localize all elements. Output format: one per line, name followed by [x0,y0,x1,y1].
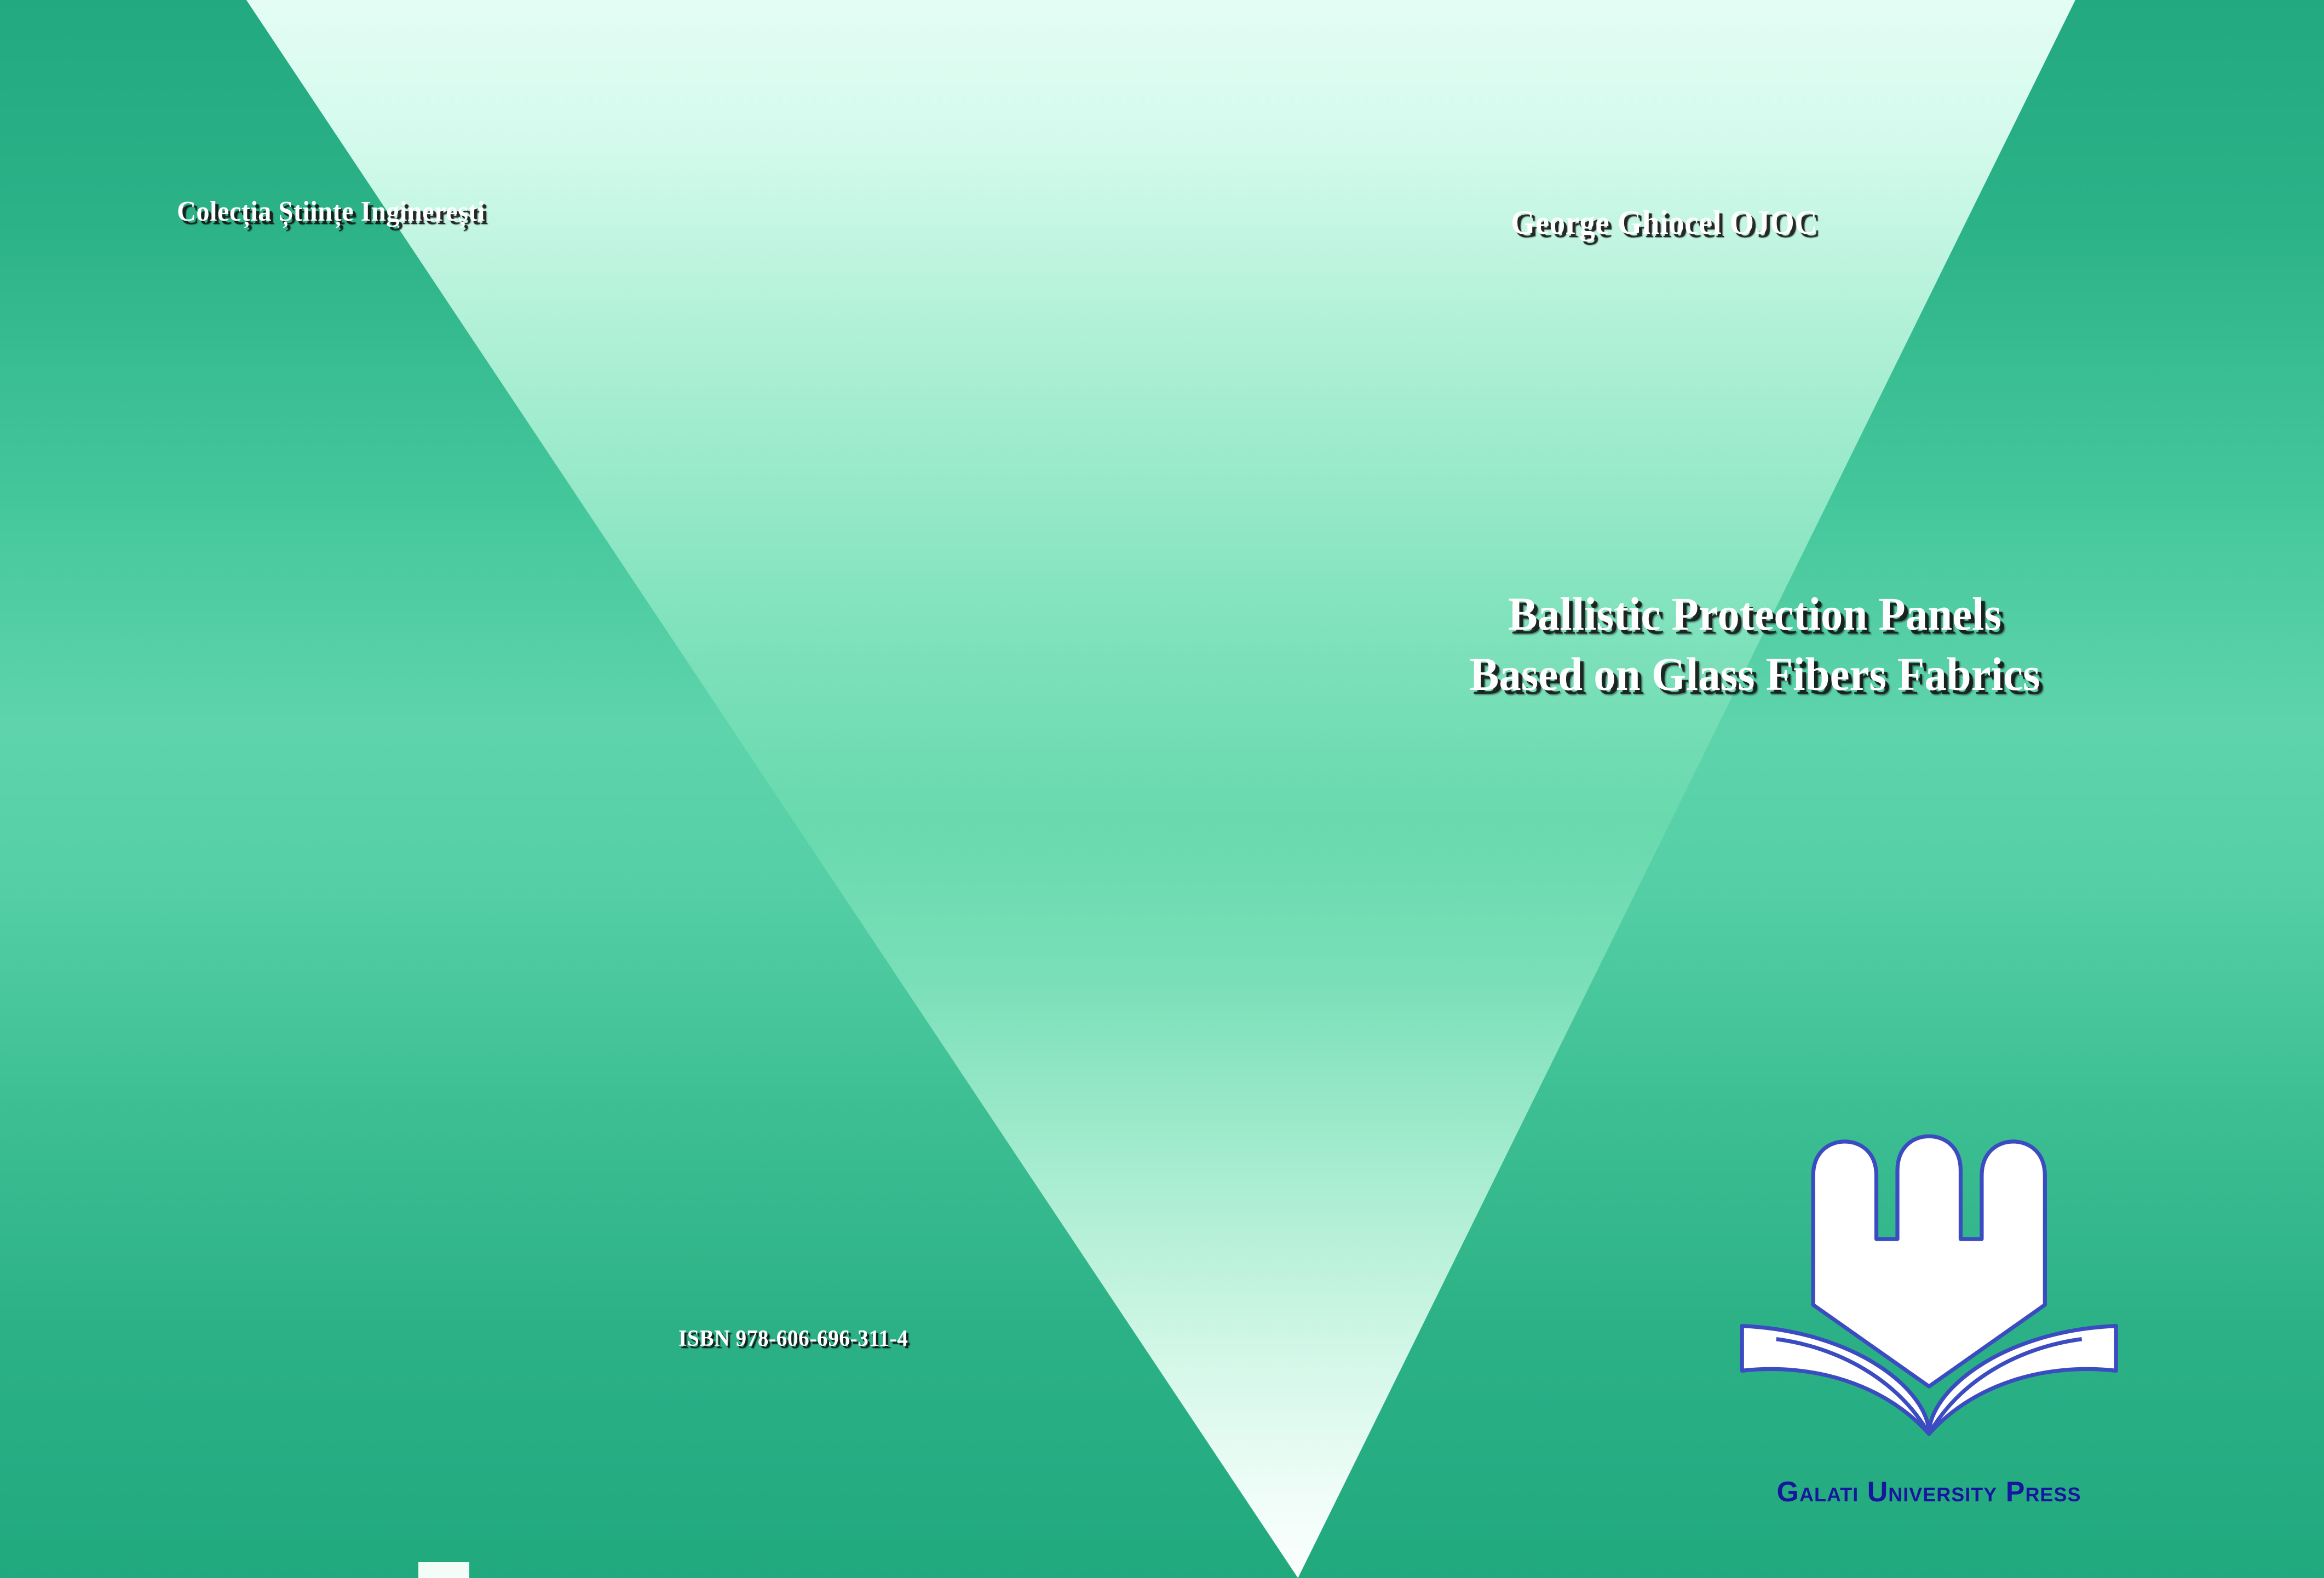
book-title: Ballistic Protection Panels Based on Gla… [1255,584,2254,704]
publisher-name: Galati University Press [1732,1476,2126,1508]
title-line-2: Based on Glass Fibers Fabrics [1285,644,2224,704]
book-cover: Colecția Științe Inginerești George Ghio… [0,0,2324,1578]
background-bottom-notch [418,1562,469,1578]
isbn-text: ISBN 978-606-696-311-4 [678,1326,908,1352]
collection-label: Colecția Științe Inginerești [177,195,485,228]
author-name: George Ghiocel OJOC [1511,204,1817,243]
hand-over-open-book-logo [1732,1113,2126,1468]
title-line-1: Ballistic Protection Panels [1285,584,2224,644]
publisher-block: Galati University Press [1732,1113,2126,1508]
